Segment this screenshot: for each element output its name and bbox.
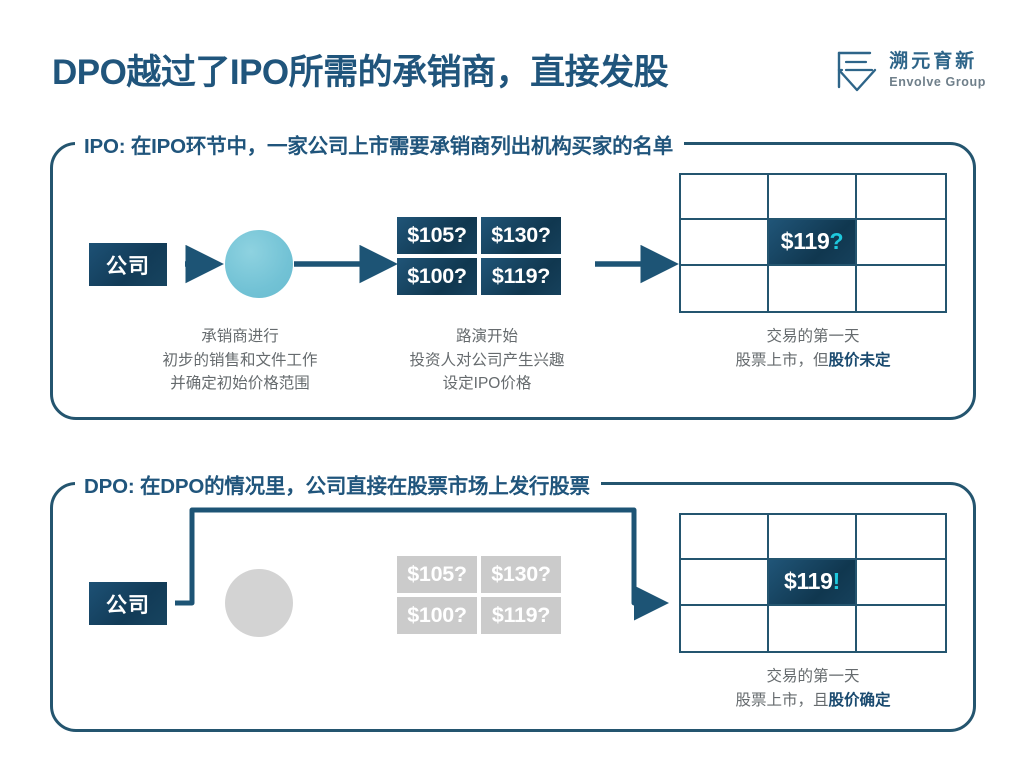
caption-text: 股票上市，且 (735, 692, 828, 709)
market-cell (681, 220, 769, 265)
dpo-company-box: 公司 (89, 582, 167, 625)
dpo-price-boxes-disabled: $105? $130? $100? $119? (397, 556, 561, 634)
logo-wordmark: 溯元育新 Envolve Group (889, 52, 986, 89)
ipo-caption-roadshow: 路演开始 投资人对公司产生兴趣 设定IPO价格 (377, 325, 597, 396)
dpo-section: DPO: 在DPO的情况里，公司直接在股票市场上发行股票 公司 $105? $1… (50, 482, 976, 732)
market-cell (681, 606, 769, 651)
market-price-value: $119 (781, 228, 830, 255)
logo-cn-name: 溯元育新 (889, 52, 986, 71)
price-cell: $119? (481, 258, 561, 295)
ipo-caption-firstday: 交易的第一天 股票上市，但股价未定 (693, 325, 933, 372)
market-cell (857, 606, 945, 651)
price-cell: $105? (397, 556, 477, 593)
caption-text: 股票上市，但 (735, 352, 828, 369)
market-price-mark: ! (833, 568, 840, 595)
caption-line: 投资人对公司产生兴趣 (377, 349, 597, 373)
price-cell: $100? (397, 597, 477, 634)
market-cell (857, 220, 945, 265)
dpo-market-grid: $119! (679, 513, 947, 653)
caption-line: 承销商进行 (130, 325, 350, 349)
caption-line: 交易的第一天 (693, 325, 933, 349)
price-cell: $130? (481, 556, 561, 593)
price-cell: $119? (481, 597, 561, 634)
dpo-caption-firstday: 交易的第一天 股票上市，且股价确定 (693, 665, 933, 712)
dpo-underwriter-circle-disabled (225, 569, 293, 637)
market-cell-price: $119? (769, 220, 857, 265)
caption-emphasis: 股价确定 (829, 692, 891, 709)
price-cell: $105? (397, 217, 477, 254)
price-cell: $100? (397, 258, 477, 295)
ipo-market-grid: $119? (679, 173, 947, 313)
page-title: DPO越过了IPO所需的承销商，直接发股 (52, 44, 668, 95)
caption-line: 交易的第一天 (693, 665, 933, 689)
caption-line: 股票上市，但股价未定 (693, 349, 933, 373)
market-cell-price: $119! (769, 560, 857, 605)
market-cell (769, 606, 857, 651)
market-cell (769, 515, 857, 560)
envolve-triangle-logo-icon (836, 48, 878, 92)
market-cell (681, 175, 769, 220)
market-price-value: $119 (784, 568, 833, 595)
market-cell (857, 560, 945, 605)
market-cell (857, 515, 945, 560)
ipo-price-boxes: $105? $130? $100? $119? (397, 217, 561, 295)
logo-en-name: Envolve Group (889, 76, 986, 89)
caption-line: 初步的销售和文件工作 (130, 349, 350, 373)
market-cell (769, 266, 857, 311)
market-cell (857, 266, 945, 311)
caption-line: 路演开始 (377, 325, 597, 349)
brand-logo: 溯元育新 Envolve Group (836, 48, 986, 92)
market-cell (857, 175, 945, 220)
market-cell (769, 175, 857, 220)
ipo-underwriter-circle (225, 230, 293, 298)
market-cell (681, 515, 769, 560)
caption-line: 设定IPO价格 (377, 372, 597, 396)
caption-line: 股票上市，且股价确定 (693, 689, 933, 713)
price-cell: $130? (481, 217, 561, 254)
caption-emphasis: 股价未定 (829, 352, 891, 369)
caption-line: 并确定初始价格范围 (130, 372, 350, 396)
page-header: DPO越过了IPO所需的承销商，直接发股 溯元育新 Envolve Group (0, 0, 1024, 118)
ipo-company-box: 公司 (89, 243, 167, 286)
market-cell (681, 560, 769, 605)
market-price-mark: ? (829, 228, 843, 255)
ipo-caption-underwriting: 承销商进行 初步的销售和文件工作 并确定初始价格范围 (130, 325, 350, 396)
market-cell (681, 266, 769, 311)
ipo-section: IPO: 在IPO环节中，一家公司上市需要承销商列出机构买家的名单 公司 $10… (50, 142, 976, 420)
